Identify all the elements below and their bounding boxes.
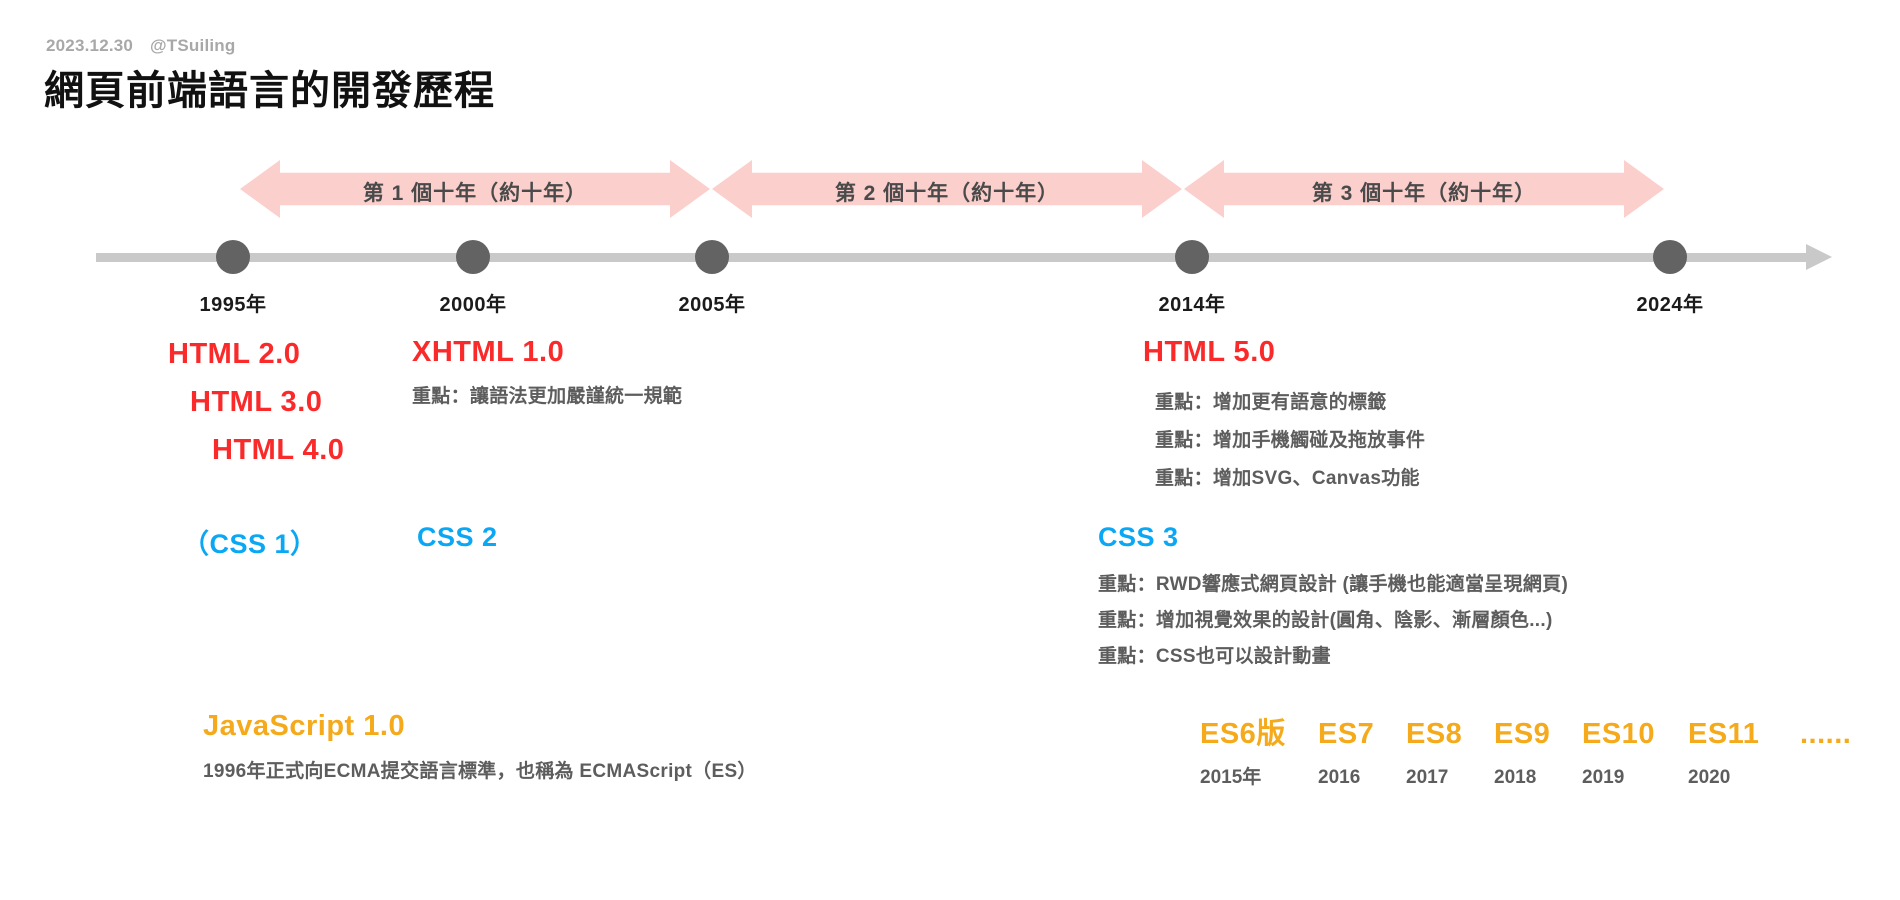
es-year-label: 2016 bbox=[1318, 767, 1406, 789]
es-version-label: ES7 bbox=[1318, 718, 1406, 751]
es-version-label: ES8 bbox=[1406, 718, 1494, 751]
timeline-node-label: 2000年 bbox=[440, 288, 507, 317]
xhtml-note: 重點：讓語法更加嚴謹統一規範 bbox=[412, 382, 682, 412]
es-version-label: ES9 bbox=[1494, 718, 1582, 751]
timeline-node-label: 1995年 bbox=[200, 288, 267, 317]
decade-band-1-label: 第 1 個十年（約十年） bbox=[363, 177, 587, 207]
css3-note: 重點：增加視覺效果的設計(圓角、陰影、漸層顏色...) bbox=[1098, 603, 1568, 639]
javascript-note: 1996年正式向ECMA提交語言標準，也稱為 ECMAScript（ES） bbox=[203, 753, 757, 791]
header-date: 2023.12.30 bbox=[46, 36, 133, 55]
timeline-node-label: 2005年 bbox=[679, 288, 746, 317]
es-year-label: 2019 bbox=[1582, 767, 1688, 789]
html-version-label: HTML 4.0 bbox=[168, 426, 344, 474]
css3-block: CSS 3 重點：RWD響應式網頁設計 (讓手機也能適當呈現網頁) 重點：增加視… bbox=[1098, 522, 1568, 675]
html-version-label: HTML 3.0 bbox=[168, 378, 344, 426]
timeline-node bbox=[1653, 240, 1687, 274]
css1-block: （CSS 1） bbox=[182, 522, 318, 561]
es-year-label: 2018 bbox=[1494, 767, 1582, 789]
css3-label: CSS 3 bbox=[1098, 522, 1568, 553]
page-title: 網頁前端語言的開發歷程 bbox=[44, 58, 495, 116]
es-year-label: 2017 bbox=[1406, 767, 1494, 789]
timeline-node bbox=[456, 240, 490, 274]
timeline-node bbox=[1175, 240, 1209, 274]
html-early-versions: HTML 2.0 HTML 3.0 HTML 4.0 bbox=[168, 330, 344, 474]
css2-block: CSS 2 bbox=[417, 522, 498, 553]
css1-label: （CSS 1） bbox=[182, 522, 318, 561]
html5-note: 重點：增加手機觸碰及拖放事件 bbox=[1155, 422, 1425, 460]
es-year-label: 2015年 bbox=[1200, 762, 1318, 789]
es-version-label: ES10 bbox=[1582, 718, 1688, 751]
css3-note: 重點：RWD響應式網頁設計 (讓手機也能適當呈現網頁) bbox=[1098, 567, 1568, 603]
es-version-label: ES6版 bbox=[1200, 710, 1318, 752]
css3-note: 重點：CSS也可以設計動畫 bbox=[1098, 639, 1568, 675]
timeline-node-label: 2024年 bbox=[1637, 288, 1704, 317]
es-version-label: ES11 bbox=[1688, 718, 1800, 751]
xhtml-version-label: XHTML 1.0 bbox=[412, 330, 682, 374]
javascript-label: JavaScript 1.0 bbox=[203, 710, 757, 743]
es-versions-block: ES6版 ES7 ES8 ES9 ES10 ES11 ...... 2015年 … bbox=[1200, 710, 1851, 789]
css2-label: CSS 2 bbox=[417, 522, 498, 553]
es-year-label: 2020 bbox=[1688, 767, 1800, 789]
axis-line bbox=[96, 253, 1810, 262]
timeline-node bbox=[695, 240, 729, 274]
es-version-years: 2015年 2016 2017 2018 2019 2020 bbox=[1200, 762, 1851, 789]
html5-version-label: HTML 5.0 bbox=[1143, 330, 1425, 374]
decade-bands: 第 1 個十年（約十年） 第 2 個十年（約十年） 第 3 個十年（約十年） bbox=[0, 160, 1900, 218]
html-version-label: HTML 2.0 bbox=[168, 330, 344, 378]
decade-band-3-label: 第 3 個十年（約十年） bbox=[1312, 177, 1536, 207]
decade-band-2: 第 2 個十年（約十年） bbox=[712, 160, 1182, 218]
decade-band-3: 第 3 個十年（約十年） bbox=[1184, 160, 1664, 218]
timeline-node bbox=[216, 240, 250, 274]
html5-note: 重點：增加SVG、Canvas功能 bbox=[1155, 460, 1425, 498]
axis-arrow-icon bbox=[1806, 244, 1832, 270]
timeline-node-label: 2014年 bbox=[1159, 288, 1226, 317]
es-version-ellipsis: ...... bbox=[1800, 718, 1851, 751]
html5-notes: 重點：增加更有語意的標籤 重點：增加手機觸碰及拖放事件 重點：增加SVG、Can… bbox=[1155, 384, 1425, 498]
es-version-names: ES6版 ES7 ES8 ES9 ES10 ES11 ...... bbox=[1200, 710, 1851, 752]
timeline-axis: 1995年 2000年 2005年 2014年 2024年 bbox=[0, 240, 1900, 330]
header-meta: 2023.12.30 @TSuiling bbox=[46, 36, 235, 56]
header-author: @TSuiling bbox=[150, 36, 235, 55]
html5-block: HTML 5.0 重點：增加更有語意的標籤 重點：增加手機觸碰及拖放事件 重點：… bbox=[1143, 330, 1425, 498]
css3-notes: 重點：RWD響應式網頁設計 (讓手機也能適當呈現網頁) 重點：增加視覺效果的設計… bbox=[1098, 567, 1568, 675]
html5-note: 重點：增加更有語意的標籤 bbox=[1155, 384, 1425, 422]
decade-band-1: 第 1 個十年（約十年） bbox=[240, 160, 710, 218]
decade-band-2-label: 第 2 個十年（約十年） bbox=[835, 177, 1059, 207]
javascript-block: JavaScript 1.0 1996年正式向ECMA提交語言標準，也稱為 EC… bbox=[203, 710, 757, 791]
xhtml-block: XHTML 1.0 重點：讓語法更加嚴謹統一規範 bbox=[412, 330, 682, 412]
